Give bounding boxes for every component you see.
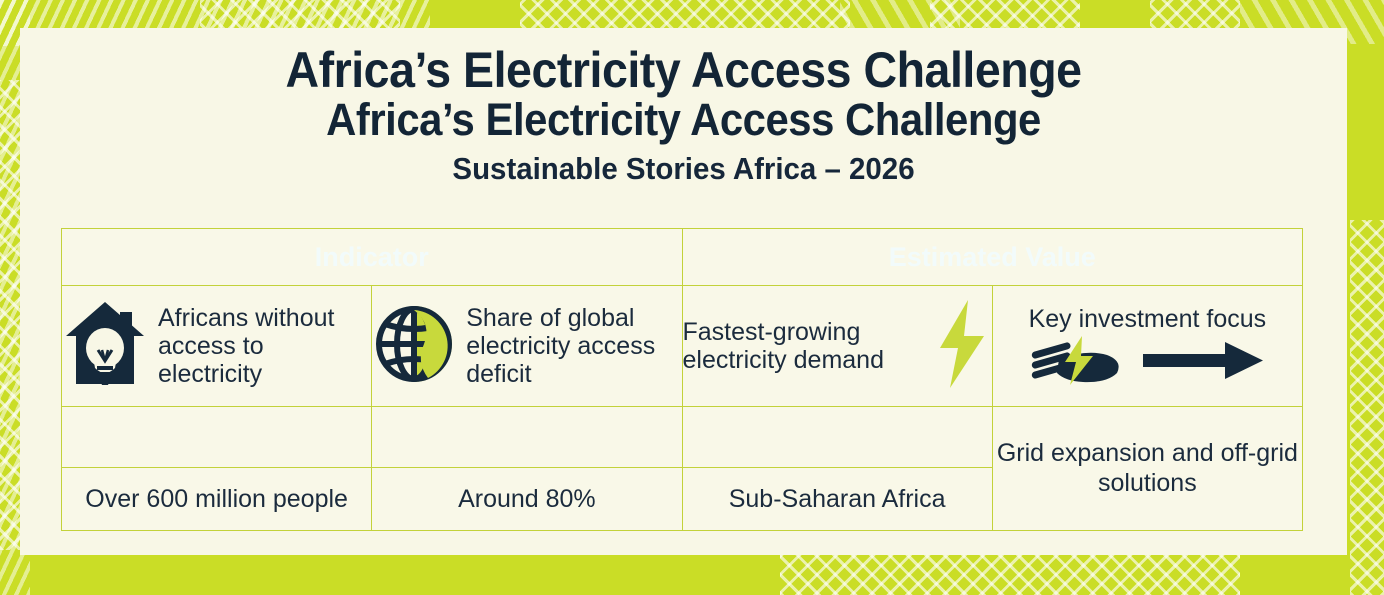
table-row-icons: Africans without access to electricity <box>62 286 1303 407</box>
title-block: Africa’s Electricity Access Challenge Af… <box>20 28 1347 186</box>
page-subtitle: Sustainable Stories Africa – 2026 <box>53 151 1314 187</box>
data-table-wrapper: Indicator Estimated Value <box>61 228 1303 531</box>
page-title-line-2: Africa’s Electricity Access Challenge <box>66 96 1300 145</box>
page-title-line-1: Africa’s Electricity Access Challenge <box>66 44 1300 96</box>
indicator-label-1: Africans without access to electricity <box>158 304 363 388</box>
cell-indicator-1: Africans without access to electricity <box>62 286 372 407</box>
hand-bolt-arrow-icon <box>1029 335 1265 387</box>
table-row-blank: Grid expansion and off-grid solutions <box>62 407 1303 468</box>
content-card: Africa’s Electricity Access Challenge Af… <box>20 28 1347 555</box>
diamond-lattice-right <box>1350 220 1384 595</box>
diamond-lattice-bottom <box>780 551 1240 595</box>
cell-indicator-2: Share of global electricity access defic… <box>372 286 682 407</box>
blank-cell-3 <box>682 407 992 468</box>
table-header-row: Indicator Estimated Value <box>62 229 1303 286</box>
blank-cell-1 <box>62 407 372 468</box>
column-header-indicator: Indicator <box>62 229 683 286</box>
house-lightbulb-icon <box>62 298 148 395</box>
value-cell-1: Over 600 million people <box>62 468 372 531</box>
value-cell-2: Around 80% <box>372 468 682 531</box>
indicator-label-3: Fastest-growing electricity demand <box>683 318 922 374</box>
indicator-label-2: Share of global electricity access defic… <box>466 304 681 388</box>
cell-indicator-4: Key investment focus <box>992 286 1302 407</box>
value-cell-3: Sub-Saharan Africa <box>682 468 992 531</box>
indicator-table: Indicator Estimated Value <box>61 228 1303 531</box>
value-cell-4: Grid expansion and off-grid solutions <box>992 407 1302 531</box>
cell-indicator-3: Fastest-growing electricity demand <box>682 286 992 407</box>
decorative-frame: Africa’s Electricity Access Challenge Af… <box>0 0 1384 595</box>
column-header-estimated-value: Estimated Value <box>682 229 1303 286</box>
blank-cell-2 <box>372 407 682 468</box>
globe-icon <box>372 302 456 391</box>
lightning-bolt-icon <box>932 298 992 395</box>
indicator-label-4: Key investment focus <box>1029 305 1267 333</box>
